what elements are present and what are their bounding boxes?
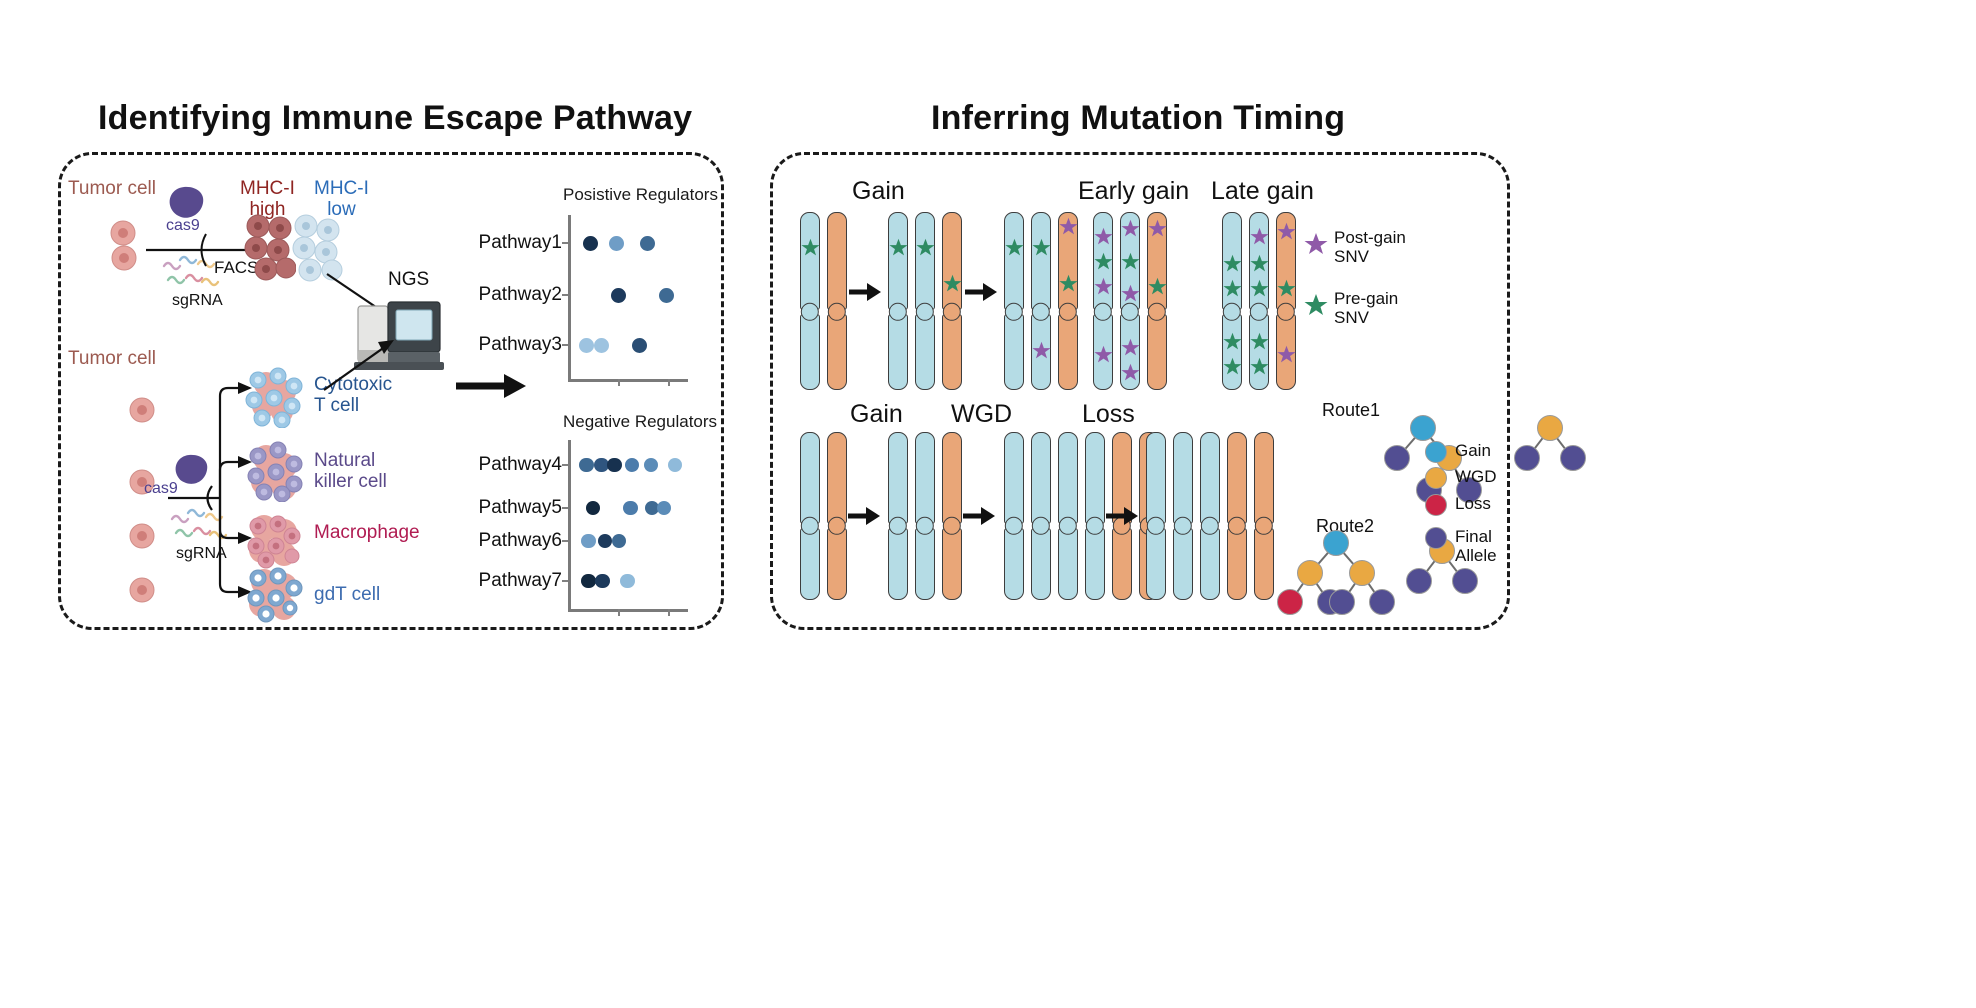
post-gain-snv-star-icon (1032, 341, 1051, 360)
chromosome (888, 432, 908, 600)
route1-final-node (1384, 445, 1410, 471)
chromosome (915, 432, 935, 600)
chromosome-arm-q (1147, 314, 1167, 390)
negative-regulators-x-axis (568, 609, 688, 612)
post-gain-snv-label: Post-gain SNV (1334, 228, 1406, 266)
route2-loss-node (1277, 589, 1303, 615)
post-gain-snv-star-icon (1094, 227, 1113, 246)
chromosome-arm-q (1031, 528, 1051, 600)
data-point (625, 458, 639, 472)
chromosome-arm-q (800, 528, 820, 600)
data-point (611, 288, 626, 303)
chromosome-arm-q (915, 314, 935, 390)
mhc-high-line1: MHC-I (240, 178, 295, 199)
legend-gain-line1: Gain (1455, 441, 1491, 460)
route1-final-node (1560, 445, 1586, 471)
chromosome-arm-q (1227, 528, 1247, 600)
chromosome (1222, 212, 1242, 390)
negative-regulators-title: Negative Regulators (563, 412, 717, 432)
chromosome-arm-p (1227, 432, 1247, 524)
natural-killer-cell-line1: Natural (314, 450, 375, 471)
chromosome (1085, 432, 1105, 600)
chromosome-arm-q (1112, 528, 1132, 600)
chromosome (1093, 212, 1113, 390)
legend-loss-label: Loss (1455, 494, 1491, 513)
chromosome (1058, 212, 1078, 390)
pre-gain-snv-star-icon (1094, 252, 1113, 271)
mhc-low-line1: MHC-I (314, 178, 369, 199)
pre-gain-snv-star-icon (1250, 332, 1269, 351)
gdt-cell-icon (244, 566, 306, 624)
legend-final-allele-swatch (1425, 527, 1447, 549)
chromosome-arm-q (942, 314, 962, 390)
post-gain-snv-star-icon (1094, 277, 1113, 296)
post-gain-snv-star-icon (1148, 219, 1167, 238)
data-point (609, 236, 624, 251)
pre-gain-snv-line1: Pre-gain (1334, 289, 1398, 308)
legend-loss-line1: Loss (1455, 494, 1491, 513)
data-point (595, 574, 609, 588)
arrow-top-2 (965, 280, 999, 304)
chromosome (1004, 212, 1024, 390)
chromosome-arm-q (1058, 528, 1078, 600)
ngs-label: NGS (388, 269, 429, 290)
tumor-cell-label-bottom: Tumor cell (68, 348, 156, 369)
pre-gain-snv-star-icon (1005, 238, 1024, 257)
chromosome (800, 212, 820, 390)
post-gain-snv-star-icon (1059, 217, 1078, 236)
arrow-to-ngs-bottom (322, 338, 402, 396)
legend-final-allele-line1: Final (1455, 527, 1492, 546)
chromosome (1254, 432, 1274, 600)
route1-wgd-node (1537, 415, 1563, 441)
positive-regulators-title: Posistive Regulators (563, 185, 718, 205)
positive-row-label-pathway3: Pathway3 (466, 334, 562, 356)
late-gain-label: Late gain (1211, 177, 1314, 206)
chromosome-arm-p (1031, 432, 1051, 524)
gain-label-bottom: Gain (850, 400, 903, 429)
data-point (607, 458, 621, 472)
chromosome (942, 212, 962, 390)
chromosome-arm-p (942, 432, 962, 524)
chromosome-arm-q (1085, 528, 1105, 600)
route2-wgd-node (1349, 560, 1375, 586)
negative-y-tick-2 (562, 507, 568, 509)
negative-y-tick-4 (562, 580, 568, 582)
gdt-cell-label: gdT cell (314, 584, 380, 605)
chromosome (1173, 432, 1193, 600)
chromosome-arm-p (915, 432, 935, 524)
data-point (632, 338, 647, 353)
chromosome-arm-p (827, 432, 847, 524)
right-panel-title: Inferring Mutation Timing (931, 99, 1345, 138)
chromosome (1031, 212, 1051, 390)
chromosome (1058, 432, 1078, 600)
negative-row-label-pathway6: Pathway6 (466, 530, 562, 552)
post-gain-snv-star-icon (1121, 338, 1140, 357)
mhc-high-cells-icon (244, 214, 296, 282)
chromosome-arm-p (1200, 432, 1220, 524)
data-point (640, 236, 655, 251)
legend-wgd-label: WGD (1455, 467, 1497, 486)
pre-gain-snv-star-icon (1223, 357, 1242, 376)
chromosome (1249, 212, 1269, 390)
pre-gain-snv-star-icon (1223, 332, 1242, 351)
chromosome-arm-p (942, 212, 962, 310)
chromosome-arm-q (888, 314, 908, 390)
chromosome (800, 432, 820, 600)
negative-regulators-y-axis (568, 440, 571, 612)
chromosome-arm-q (1222, 314, 1242, 390)
negative-x-tick-2 (668, 609, 670, 616)
chromosome-arm-q (915, 528, 935, 600)
arrow-bottom-2 (963, 504, 997, 528)
chromosome (1200, 432, 1220, 600)
negative-row-label-pathway4: Pathway4 (466, 454, 562, 476)
pre-gain-snv-star-icon (889, 238, 908, 257)
pre-gain-snv-star-icon (1223, 279, 1242, 298)
pre-gain-snv-line2: SNV (1334, 308, 1369, 327)
positive-row-label-pathway1: Pathway1 (466, 232, 562, 254)
chromosome-arm-q (827, 528, 847, 600)
chromosome-arm-p (1004, 212, 1024, 310)
pre-gain-snv-star-icon (916, 238, 935, 257)
macrophage-icon (244, 512, 306, 570)
chromosome (1146, 432, 1166, 600)
data-point (581, 534, 595, 548)
chromosome-arm-p (1173, 432, 1193, 524)
chromosome-arm-q (1173, 528, 1193, 600)
data-point (583, 236, 598, 251)
chromosome-arm-q (800, 314, 820, 390)
pre-gain-snv-star-icon (801, 238, 820, 257)
natural-killer-cell-label: Natural killer cell (314, 450, 387, 493)
chromosome-arm-q (1200, 528, 1220, 600)
chromosome (1031, 432, 1051, 600)
legend-wgd-line1: WGD (1455, 467, 1497, 486)
post-gain-snv-star-icon (1277, 222, 1296, 241)
chromosome-arm-p (1085, 432, 1105, 524)
chromosome-arm-p (1058, 432, 1078, 524)
positive-row-label-pathway2: Pathway2 (466, 284, 562, 306)
pre-gain-snv-star-icon (1304, 293, 1328, 317)
legend-loss-swatch (1425, 494, 1447, 516)
route1-label: Route1 (1322, 400, 1380, 420)
arrow-bottom-3 (1106, 504, 1140, 528)
chromosome-arm-p (888, 212, 908, 310)
route2-final-node (1452, 568, 1478, 594)
sgrna-label-top: sgRNA (172, 292, 223, 310)
positive-y-tick-3 (562, 344, 568, 346)
chromosome-arm-p (1254, 432, 1274, 524)
chromosome (1004, 432, 1024, 600)
cytotoxic-t-cell-icon (244, 366, 306, 428)
data-point (579, 458, 593, 472)
positive-regulators-x-axis (568, 379, 688, 382)
chromosome-arm-q (827, 314, 847, 390)
chromosome (1147, 212, 1167, 390)
chromosome-arm-q (888, 528, 908, 600)
data-point (612, 534, 626, 548)
chromosome (827, 212, 847, 390)
pre-gain-snv-label: Pre-gain SNV (1334, 289, 1398, 327)
route2-wgd-node (1297, 560, 1323, 586)
pre-gain-snv-star-icon (1121, 252, 1140, 271)
legend-final-allele-label: FinalAllele (1455, 527, 1497, 565)
route1-final-node (1514, 445, 1540, 471)
data-point (623, 501, 637, 515)
post-gain-snv-star-icon (1250, 227, 1269, 246)
pre-gain-snv-star-icon (1223, 254, 1242, 273)
left-panel-title: Identifying Immune Escape Pathway (98, 99, 692, 138)
chromosome (942, 432, 962, 600)
route2-final-node (1329, 589, 1355, 615)
route2-gain-node (1323, 530, 1349, 556)
natural-killer-cell-line2: killer cell (314, 471, 387, 492)
post-gain-snv-star-icon (1304, 232, 1328, 256)
loss-label: Loss (1082, 400, 1135, 429)
legend-gain-swatch (1425, 441, 1447, 463)
legend-final-allele-line2: Allele (1455, 546, 1497, 565)
chromosome (1276, 212, 1296, 390)
negative-row-label-pathway7: Pathway7 (466, 570, 562, 592)
pre-gain-snv-star-icon (1032, 238, 1051, 257)
data-point (581, 574, 595, 588)
chromosome-arm-q (1146, 528, 1166, 600)
pre-gain-snv-star-icon (1277, 279, 1296, 298)
chromosome (888, 212, 908, 390)
route2-final-node (1369, 589, 1395, 615)
data-point (620, 574, 634, 588)
chromosome-arm-p (1004, 432, 1024, 524)
gain-label-top: Gain (852, 177, 905, 206)
positive-y-tick-2 (562, 294, 568, 296)
data-point (598, 534, 612, 548)
chromosome (1227, 432, 1247, 600)
arrow-bottom-1 (848, 504, 882, 528)
pre-gain-snv-star-icon (1250, 357, 1269, 376)
chromosome-arm-q (1004, 528, 1024, 600)
negative-row-label-pathway5: Pathway5 (466, 497, 562, 519)
tumor-cells-top-icon (107, 218, 149, 278)
pre-gain-snv-star-icon (1148, 277, 1167, 296)
post-gain-snv-star-icon (1277, 345, 1296, 364)
negative-x-tick-1 (618, 609, 620, 616)
negative-y-tick-3 (562, 540, 568, 542)
early-gain-label: Early gain (1078, 177, 1189, 206)
pre-gain-snv-star-icon (1250, 254, 1269, 273)
chromosome-arm-p (1146, 432, 1166, 524)
wgd-label: WGD (951, 400, 1012, 429)
route1-gain-node (1410, 415, 1436, 441)
chromosome-arm-q (942, 528, 962, 600)
data-point (579, 338, 594, 353)
chromosome (1120, 212, 1140, 390)
chromosome-arm-p (827, 212, 847, 310)
positive-x-tick-1 (618, 379, 620, 386)
post-gain-snv-line2: SNV (1334, 247, 1369, 266)
data-point (586, 501, 600, 515)
chromosome-arm-q (1249, 314, 1269, 390)
chromosome (915, 212, 935, 390)
post-gain-snv-star-icon (1121, 363, 1140, 382)
chromosome-arm-p (800, 212, 820, 310)
chromosome-arm-q (1058, 314, 1078, 390)
chromosome-arm-p (915, 212, 935, 310)
arrow-top-1 (849, 280, 883, 304)
positive-x-tick-2 (668, 379, 670, 386)
post-gain-snv-star-icon (1094, 345, 1113, 364)
big-arrow-to-plots (456, 368, 530, 404)
macrophage-label: Macrophage (314, 522, 420, 543)
post-gain-snv-line1: Post-gain (1334, 228, 1406, 247)
chromosome (827, 432, 847, 600)
positive-y-tick-1 (562, 242, 568, 244)
cytotoxic-t-cell-line2: T cell (314, 395, 359, 416)
chromosome-arm-p (800, 432, 820, 524)
legend-wgd-swatch (1425, 467, 1447, 489)
data-point (594, 338, 609, 353)
post-gain-snv-star-icon (1121, 219, 1140, 238)
data-point (659, 288, 674, 303)
pre-gain-snv-star-icon (943, 274, 962, 293)
pre-gain-snv-star-icon (1250, 279, 1269, 298)
negative-y-tick-1 (562, 464, 568, 466)
route2-final-node (1406, 568, 1432, 594)
tumor-cell-label-top: Tumor cell (68, 178, 156, 199)
legend-gain-label: Gain (1455, 441, 1491, 460)
pre-gain-snv-star-icon (1059, 274, 1078, 293)
positive-regulators-y-axis (568, 215, 571, 382)
chromosome-arm-q (1004, 314, 1024, 390)
post-gain-snv-star-icon (1121, 284, 1140, 303)
natural-killer-cell-icon (244, 440, 306, 502)
chromosome-arm-p (888, 432, 908, 524)
tumor-cells-bottom-icon (126, 396, 160, 606)
chromosome-arm-p (1031, 212, 1051, 310)
chromosome-arm-q (1254, 528, 1274, 600)
